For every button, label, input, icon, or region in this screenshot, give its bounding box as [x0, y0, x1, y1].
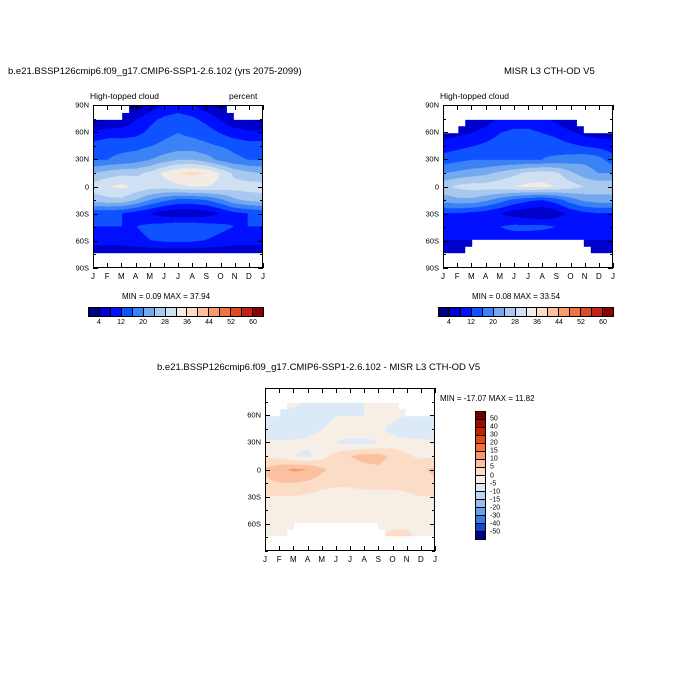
x-tick-mark	[393, 388, 394, 393]
x-tick-label: J	[433, 555, 437, 564]
colorbar-tick-label: 10	[490, 456, 498, 463]
x-tick-mark	[279, 388, 280, 393]
y-tick-mark	[430, 497, 435, 498]
colorbar-swatch	[476, 484, 485, 492]
colorbar-tick-label: -5	[490, 480, 496, 487]
y-tick-mark	[430, 470, 435, 471]
x-tick-label: F	[277, 555, 282, 564]
x-tick-label: M	[318, 555, 325, 564]
panel-difference: b.e21.BSSP126cmip6.f09_g17.CMIP6-SSP1-2.…	[0, 0, 700, 700]
colorbar-swatch	[476, 476, 485, 484]
y-tick-mark	[430, 524, 435, 525]
colorbar-swatch	[476, 508, 485, 516]
y-minor-tick	[265, 537, 268, 538]
y-tick-mark	[265, 497, 270, 498]
y-tick-label: 30N	[235, 438, 261, 447]
colorbar-tick-label: 30	[490, 432, 498, 439]
x-tick-mark	[308, 546, 309, 551]
x-tick-mark	[407, 388, 408, 393]
y-minor-tick	[432, 429, 435, 430]
diff-plot-area[interactable]	[265, 388, 435, 551]
colorbar-swatch	[476, 500, 485, 508]
colorbar-swatch	[476, 444, 485, 452]
x-tick-mark	[421, 388, 422, 393]
colorbar-swatch	[476, 412, 485, 420]
colorbar-tick-label: 40	[490, 424, 498, 431]
y-minor-tick	[265, 429, 268, 430]
y-minor-tick	[265, 456, 268, 457]
colorbar-tick-label: -40	[490, 520, 500, 527]
colorbar-swatch	[476, 468, 485, 476]
x-tick-mark	[322, 388, 323, 393]
colorbar-swatch	[476, 460, 485, 468]
x-tick-label: A	[305, 555, 310, 564]
y-tick-mark	[265, 442, 270, 443]
x-tick-mark	[364, 388, 365, 393]
x-tick-label: A	[361, 555, 366, 564]
y-tick-mark	[430, 415, 435, 416]
y-tick-label: 30S	[235, 492, 261, 501]
y-tick-mark	[265, 415, 270, 416]
y-minor-tick	[265, 483, 268, 484]
colorbar-tick-label: 0	[490, 472, 494, 479]
colorbar-swatch	[476, 516, 485, 524]
colorbar-tick-label: -15	[490, 496, 500, 503]
x-tick-mark	[364, 546, 365, 551]
colorbar-swatch	[476, 428, 485, 436]
y-minor-tick	[265, 402, 268, 403]
colorbar-tick-label: -20	[490, 504, 500, 511]
y-tick-mark	[265, 470, 270, 471]
colorbar-tick-label: 20	[490, 440, 498, 447]
x-tick-mark	[265, 388, 266, 393]
x-tick-mark	[336, 546, 337, 551]
colorbar-swatch	[476, 420, 485, 428]
colorbar-tick-label: 15	[490, 448, 498, 455]
x-tick-mark	[279, 546, 280, 551]
x-tick-label: S	[376, 555, 381, 564]
y-minor-tick	[432, 483, 435, 484]
colorbar-swatch	[476, 452, 485, 460]
x-tick-label: N	[404, 555, 410, 564]
colorbar-tick-label: -10	[490, 488, 500, 495]
y-minor-tick	[432, 551, 435, 552]
x-tick-label: O	[389, 555, 395, 564]
colorbar-tick-label: 5	[490, 464, 494, 471]
x-tick-mark	[378, 546, 379, 551]
colorbar-swatch	[476, 524, 485, 532]
x-tick-label: M	[290, 555, 297, 564]
x-tick-label: J	[348, 555, 352, 564]
x-tick-mark	[293, 388, 294, 393]
y-minor-tick	[432, 456, 435, 457]
colorbar-tick-label: -30	[490, 512, 500, 519]
diff-colorbar[interactable]: 50403020151050-5-10-15-20-30-40-50	[475, 411, 515, 540]
colorbar-tick-label: -50	[490, 528, 500, 535]
x-tick-label: J	[334, 555, 338, 564]
colorbar-swatch	[476, 436, 485, 444]
x-tick-mark	[350, 546, 351, 551]
x-tick-label: J	[263, 555, 267, 564]
x-tick-mark	[378, 388, 379, 393]
x-tick-mark	[435, 546, 436, 551]
x-tick-mark	[308, 388, 309, 393]
x-tick-mark	[421, 546, 422, 551]
y-minor-tick	[265, 510, 268, 511]
y-minor-tick	[432, 537, 435, 538]
y-tick-label: 0	[235, 465, 261, 474]
diff-heatmap-canvas	[266, 389, 434, 550]
colorbar-swatch	[476, 492, 485, 500]
y-minor-tick	[432, 510, 435, 511]
colorbar-tick-label: 50	[490, 416, 498, 423]
x-tick-mark	[336, 388, 337, 393]
x-tick-mark	[350, 388, 351, 393]
x-tick-mark	[293, 546, 294, 551]
diff-plot-title: b.e21.BSSP126cmip6.f09_g17.CMIP6-SSP1-2.…	[157, 362, 480, 373]
x-tick-mark	[265, 546, 266, 551]
x-tick-mark	[407, 546, 408, 551]
x-tick-mark	[435, 388, 436, 393]
y-tick-mark	[430, 442, 435, 443]
x-tick-label: D	[418, 555, 424, 564]
colorbar-swatch	[476, 532, 485, 539]
y-tick-label: 60S	[235, 519, 261, 528]
x-tick-mark	[393, 546, 394, 551]
y-minor-tick	[432, 402, 435, 403]
diff-minmax-label: MIN = -17.07 MAX = 11.82	[440, 394, 535, 403]
x-tick-mark	[322, 546, 323, 551]
y-minor-tick	[265, 551, 268, 552]
y-tick-mark	[265, 524, 270, 525]
y-tick-label: 60N	[235, 411, 261, 420]
